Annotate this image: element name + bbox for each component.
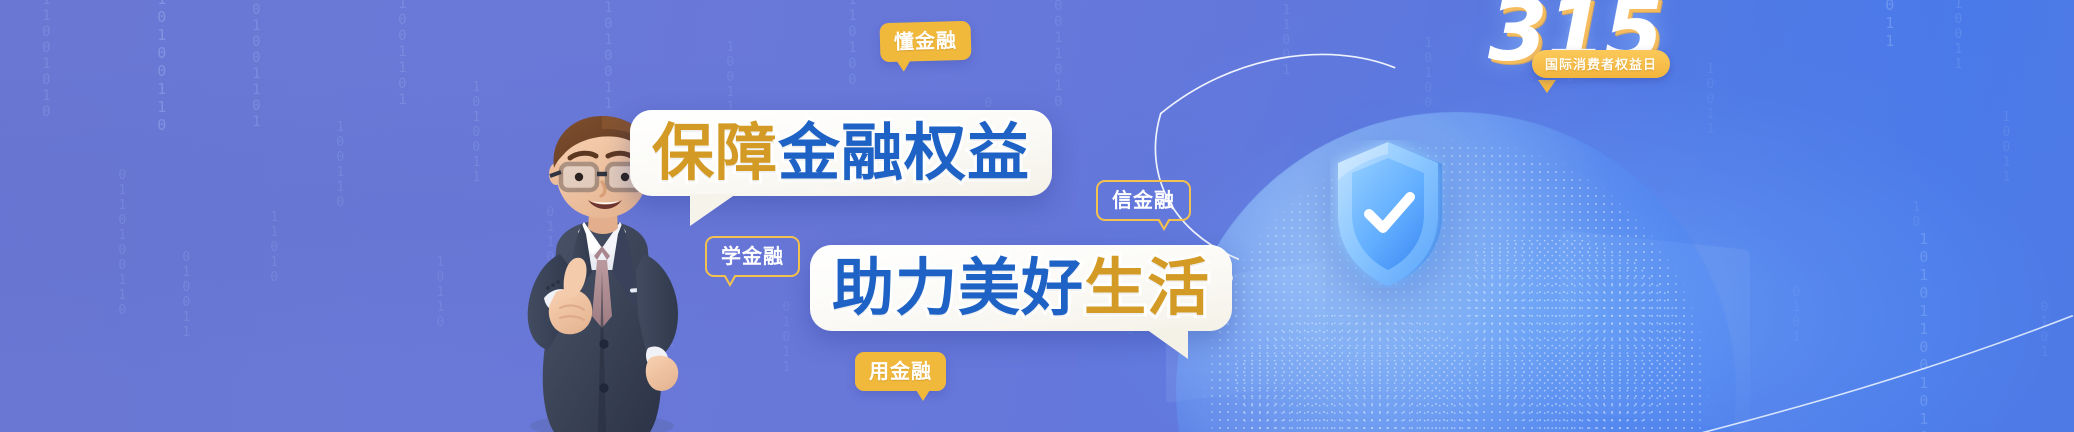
tag-xin-jinrong-tail-inner [1159, 218, 1169, 227]
tag-dong-jinrong-label: 懂金融 [894, 28, 958, 54]
315-badge-label: 国际消费者权益日 [1545, 54, 1657, 73]
tag-xin-jinrong: 信金融 [1096, 180, 1191, 221]
tag-xue-jinrong-tail-inner [725, 274, 735, 283]
headline-primary-bubble: 保障 金融权益 [630, 110, 1052, 196]
tag-dong-jinrong: 懂金融 [880, 21, 972, 62]
headline-primary-gold-text: 保障 [652, 122, 778, 184]
background-gradient [0, 0, 2074, 432]
tag-xin-jinrong-label: 信金融 [1112, 188, 1175, 212]
tag-xue-jinrong-label: 学金融 [721, 244, 784, 268]
315-badge: 国际消费者权益日 [1532, 50, 1670, 78]
315-badge-tail [1538, 80, 1556, 93]
tag-yong-jinrong: 用金融 [855, 352, 946, 391]
finance-consumer-rights-banner: 1011001010011010011010100110010011010100… [0, 0, 2074, 432]
headline-secondary-tail [1146, 329, 1188, 359]
headline-secondary-bubble: 助力美好 生活 [810, 245, 1232, 331]
tag-yong-jinrong-tail [916, 390, 930, 401]
headline-primary-tail [690, 194, 736, 226]
tag-yong-jinrong-label: 用金融 [869, 359, 932, 383]
shield-check-icon [1330, 140, 1450, 288]
headline-secondary-blue-text: 助力美好 [832, 257, 1084, 319]
315-logo: 315 国际消费者权益日 [1476, 0, 1676, 104]
headline-secondary-gold-text: 生活 [1084, 257, 1210, 319]
headline-primary-blue-text: 金融权益 [778, 122, 1030, 184]
tag-xue-jinrong: 学金融 [705, 236, 800, 277]
tag-dong-jinrong-tail [896, 60, 910, 71]
